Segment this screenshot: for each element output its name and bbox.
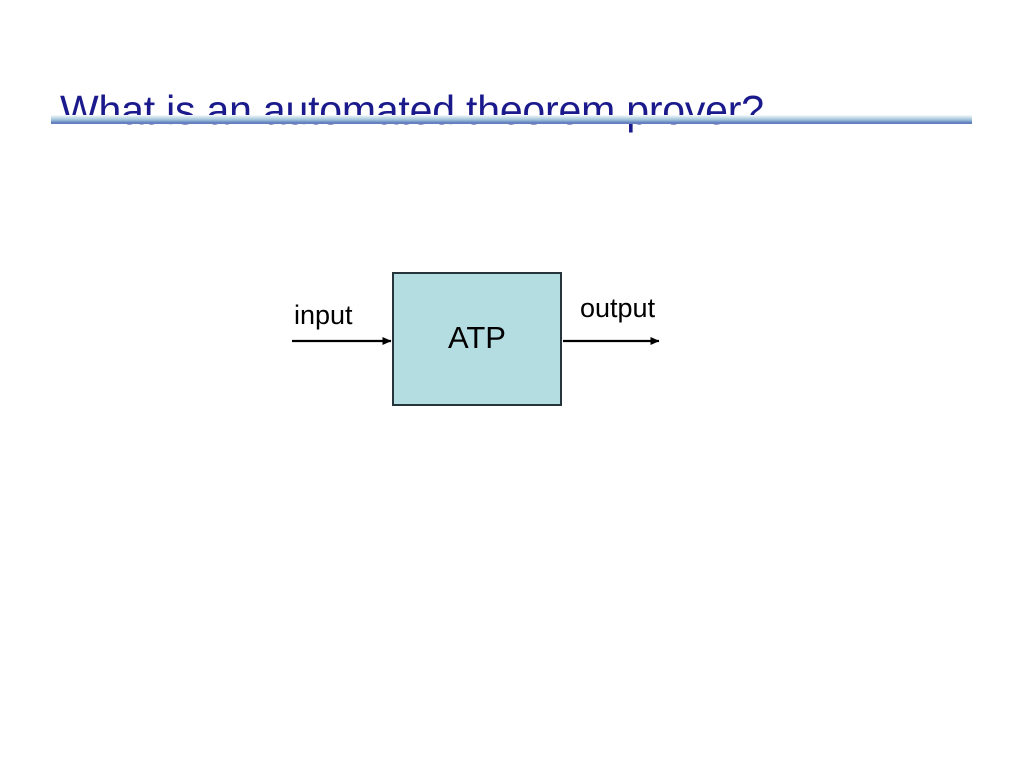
slide-canvas: What is an automated theorem prover? ATP…: [0, 0, 1024, 768]
title-divider: [51, 115, 972, 124]
input-label: input: [294, 299, 353, 331]
atp-box: ATP: [392, 272, 562, 406]
atp-box-label: ATP: [394, 274, 560, 404]
output-label: output: [580, 292, 655, 324]
page-title: What is an automated theorem prover?: [60, 85, 980, 137]
